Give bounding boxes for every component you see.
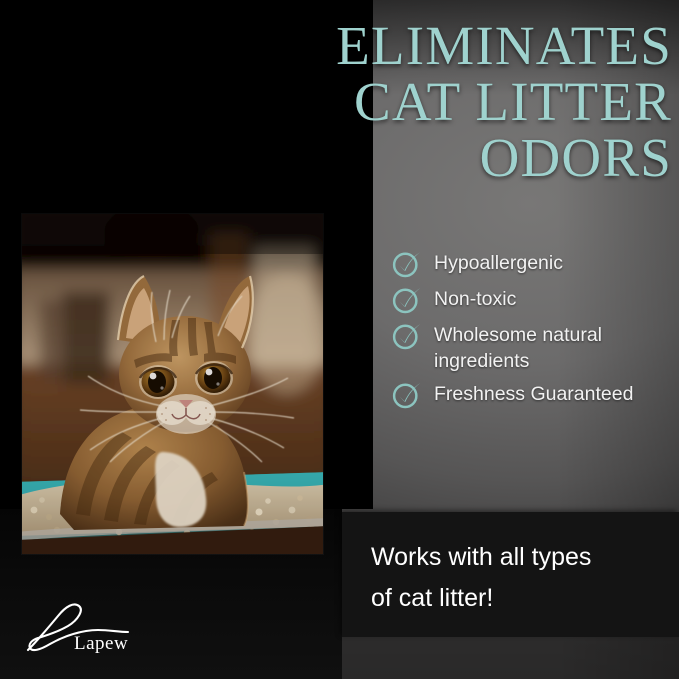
- product-poster: ELIMINATES CAT LITTER ODORS: [0, 0, 679, 679]
- check-circle-icon: [392, 321, 422, 351]
- benefit-item: Wholesome natural ingredients: [392, 322, 672, 374]
- benefit-label: Wholesome natural ingredients: [434, 322, 666, 374]
- callout-line-2: of cat litter!: [371, 578, 661, 619]
- benefit-item: Freshness Guaranteed: [392, 381, 672, 410]
- callout-line-1: Works with all types: [371, 537, 661, 578]
- check-circle-icon: [392, 380, 422, 410]
- callout-box: Works with all types of cat litter!: [342, 512, 679, 637]
- benefit-item: Non-toxic: [392, 286, 672, 315]
- benefits-list: Hypoallergenic Non-toxic Wholesome natur…: [392, 250, 672, 410]
- check-circle-icon: [392, 249, 422, 279]
- callout-text: Works with all types of cat litter!: [371, 537, 661, 619]
- headline-line-2: CAT LITTER: [300, 74, 672, 130]
- benefit-label: Hypoallergenic: [434, 250, 563, 276]
- brand-logo: Lapew: [24, 598, 164, 660]
- benefit-label: Freshness Guaranteed: [434, 381, 633, 407]
- brand-name: Lapew: [74, 634, 128, 653]
- benefit-item: Hypoallergenic: [392, 250, 672, 279]
- headline-line-3: ODORS: [300, 130, 672, 186]
- headline: ELIMINATES CAT LITTER ODORS: [300, 18, 672, 186]
- benefit-label: Non-toxic: [434, 286, 516, 312]
- kitten-photo: [22, 214, 323, 554]
- check-circle-icon: [392, 285, 422, 315]
- headline-line-1: ELIMINATES: [300, 18, 672, 74]
